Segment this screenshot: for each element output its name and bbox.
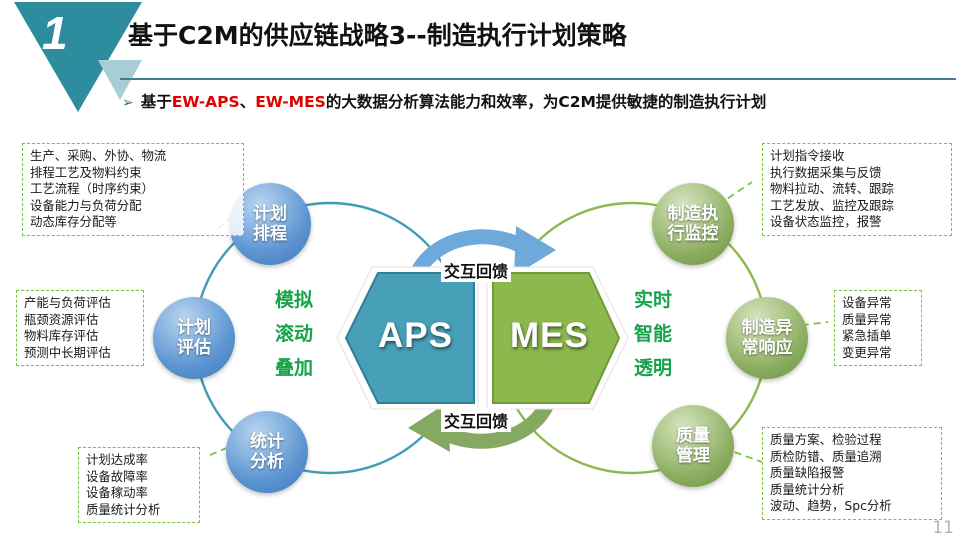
node-plan-scheduling-line1: 计划 [253,204,287,224]
node-plan-scheduling-line2: 排程 [253,224,287,244]
node-mem-line1: 制造执 [668,204,719,224]
node-plan-evaluation-line1: 计划 [177,318,211,338]
keywords-left: 模拟 滚动 叠加 [275,283,313,385]
note-bottom-left: 计划达成率 设备故障率 设备稼动率 质量统计分析 [78,447,200,523]
note-mid-left-line2: 瓶颈资源评估 [24,312,137,329]
node-manufacturing-exception-response[interactable]: 制造异 常响应 [726,297,808,379]
note-top-left-line3: 工艺流程（时序约束） [30,181,237,198]
note-top-right-line4: 工艺发放、监控及跟踪 [770,198,945,215]
node-mer-line2: 常响应 [742,338,793,358]
note-top-right-line5: 设备状态监控，报警 [770,214,945,231]
feedback-label-top: 交互回馈 [441,258,511,282]
keyword-right-2: 智能 [634,317,672,351]
node-mem-line2: 行监控 [668,224,719,244]
node-statistical-analysis[interactable]: 统计 分析 [226,411,308,493]
node-qm-line1: 质量 [676,426,710,446]
mes-hexagon-label[interactable]: MES [510,316,589,356]
note-top-right-line3: 物料拉动、流转、跟踪 [770,181,945,198]
node-manufacturing-execution-monitoring[interactable]: 制造执 行监控 [652,183,734,265]
note-top-left-line2: 排程工艺及物料约束 [30,165,237,182]
feedback-label-bottom: 交互回馈 [441,408,511,432]
note-top-left-line1: 生产、采购、外协、物流 [30,148,237,165]
note-bottom-left-line1: 计划达成率 [86,452,193,469]
node-mer-line1: 制造异 [742,318,793,338]
note-bottom-right-line5: 波动、趋势，Spc分析 [770,498,935,515]
note-top-left: 生产、采购、外协、物流 排程工艺及物料约束 工艺流程（时序约束） 设备能力与负荷… [22,143,244,236]
note-mid-right-line1: 设备异常 [842,295,915,312]
page-number: 11 [932,518,954,538]
note-mid-right-line4: 变更异常 [842,345,915,362]
node-plan-evaluation-line2: 评估 [177,338,211,358]
note-top-right-line1: 计划指令接收 [770,148,945,165]
note-bottom-right-line1: 质量方案、检验过程 [770,432,935,449]
node-statistical-analysis-line2: 分析 [250,452,284,472]
note-top-left-line5: 动态库存分配等 [30,214,237,231]
note-mid-left-line4: 预测中长期评估 [24,345,137,362]
note-bottom-left-line3: 设备稼动率 [86,485,193,502]
note-top-right: 计划指令接收 执行数据采集与反馈 物料拉动、流转、跟踪 工艺发放、监控及跟踪 设… [762,143,952,236]
node-statistical-analysis-line1: 统计 [250,432,284,452]
note-bottom-right-line3: 质量缺陷报警 [770,465,935,482]
keyword-left-1: 模拟 [275,283,313,317]
note-bottom-left-line4: 质量统计分析 [86,502,193,519]
keyword-left-3: 叠加 [275,351,313,385]
note-bottom-left-line2: 设备故障率 [86,469,193,486]
note-mid-right-line3: 紧急插单 [842,328,915,345]
node-qm-line2: 管理 [676,446,710,466]
note-top-left-line4: 设备能力与负荷分配 [30,198,237,215]
keywords-right: 实时 智能 透明 [634,283,672,385]
node-plan-evaluation[interactable]: 计划 评估 [153,297,235,379]
node-quality-management[interactable]: 质量 管理 [652,405,734,487]
note-bottom-right: 质量方案、检验过程 质检防错、质量追溯 质量缺陷报警 质量统计分析 波动、趋势，… [762,427,942,520]
note-mid-left-line3: 物料库存评估 [24,328,137,345]
note-mid-right: 设备异常 质量异常 紧急插单 变更异常 [834,290,922,366]
keyword-left-2: 滚动 [275,317,313,351]
keyword-right-3: 透明 [634,351,672,385]
slide-canvas: 1 基于C2M的供应链战略3--制造执行计划策略 ➢基于EW-APS、EW-ME… [0,0,960,540]
slide-number-badge: 1 [42,6,68,60]
aps-hexagon-label[interactable]: APS [378,316,453,356]
note-bottom-right-line4: 质量统计分析 [770,482,935,499]
note-bottom-right-line2: 质检防错、质量追溯 [770,449,935,466]
note-mid-left-line1: 产能与负荷评估 [24,295,137,312]
note-mid-right-line2: 质量异常 [842,312,915,329]
note-top-right-line2: 执行数据采集与反馈 [770,165,945,182]
keyword-right-1: 实时 [634,283,672,317]
note-mid-left: 产能与负荷评估 瓶颈资源评估 物料库存评估 预测中长期评估 [16,290,144,366]
